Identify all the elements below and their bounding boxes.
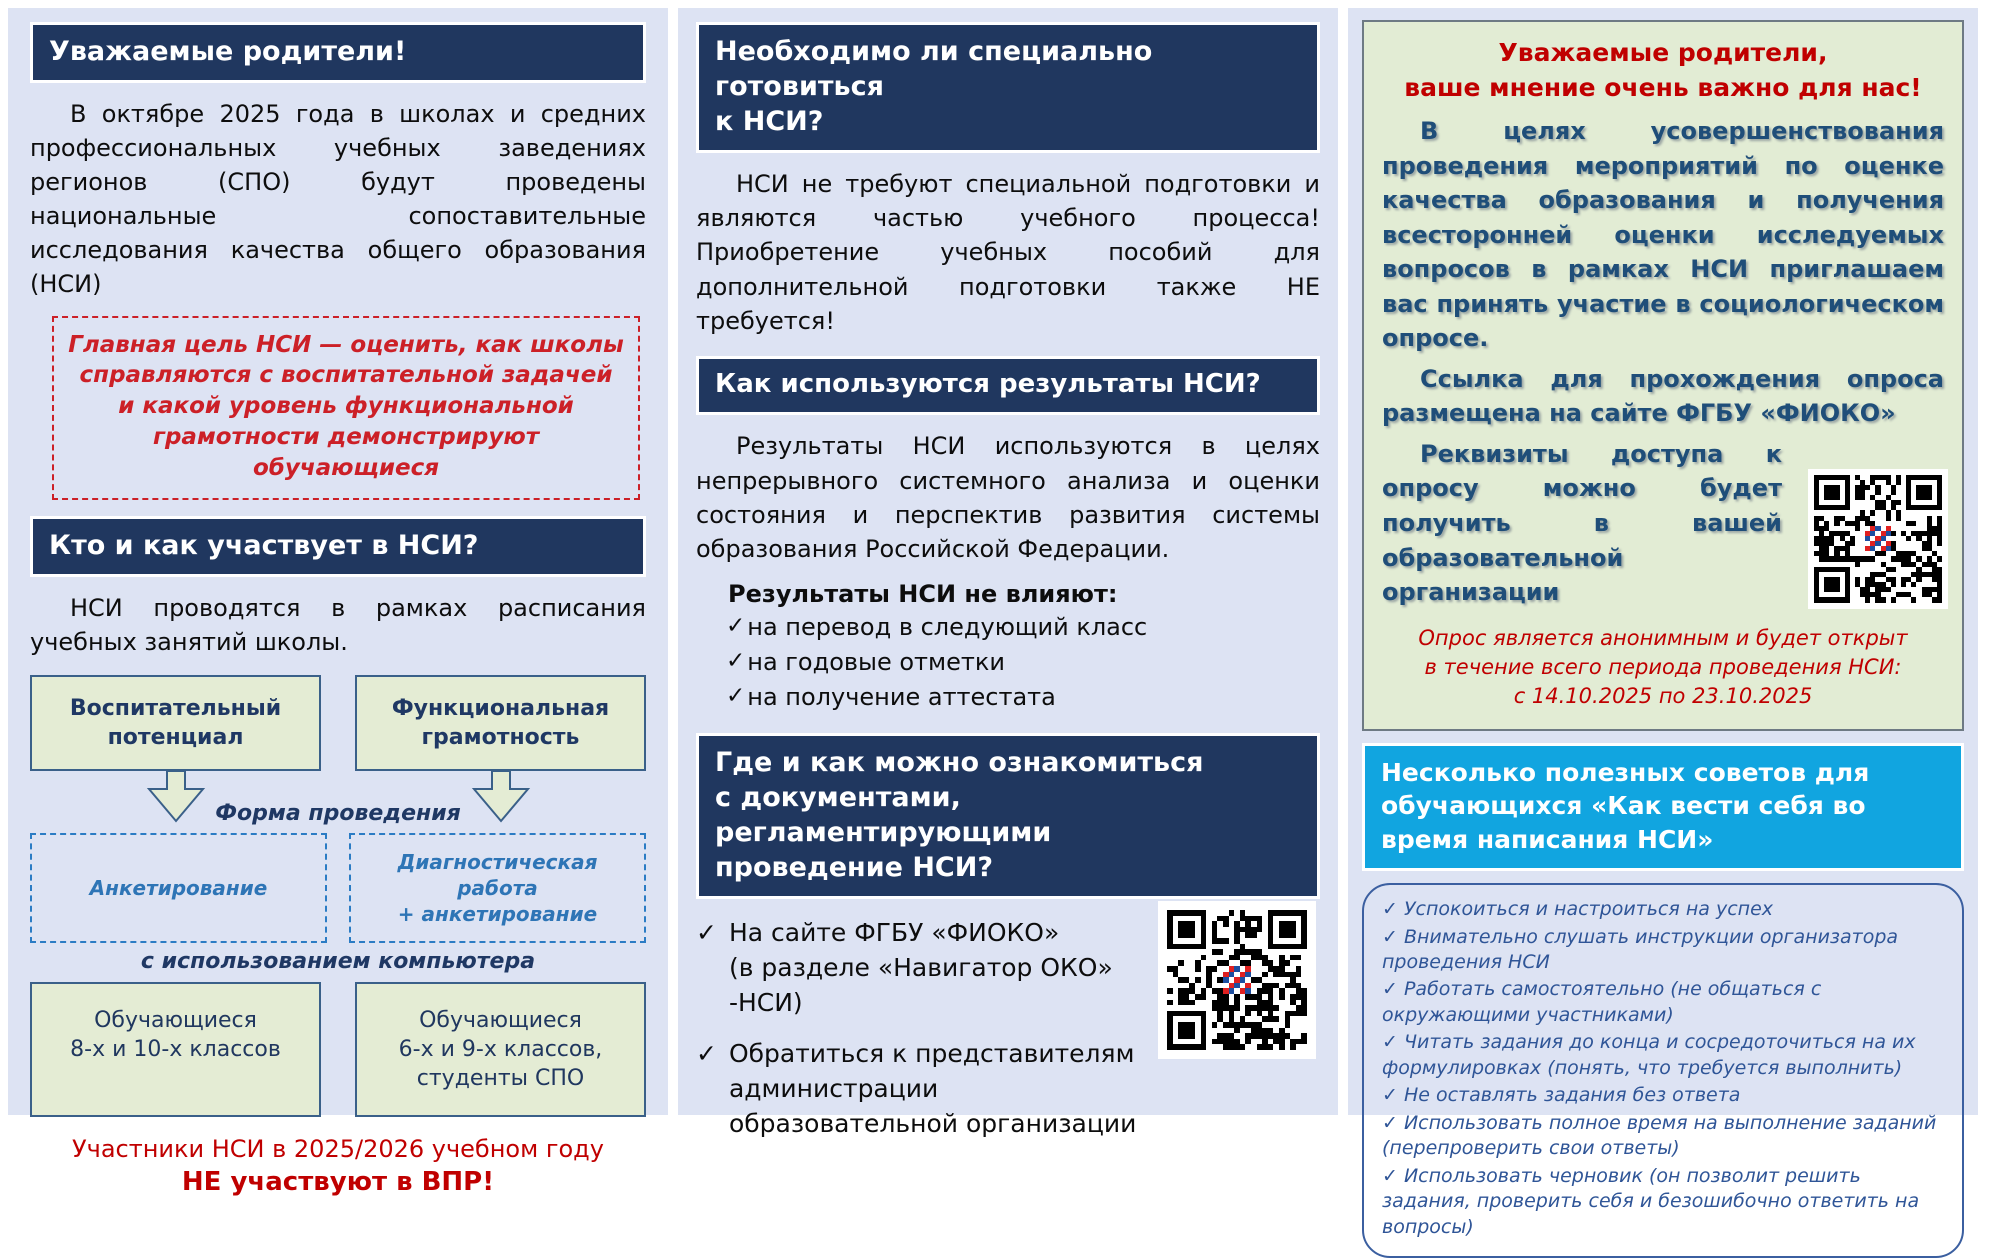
goal-line-5: обучающиеся — [68, 453, 624, 484]
vpr-note-line2: НЕ участвуют в ВПР! — [30, 1165, 646, 1200]
box-functional-literacy: Функциональная грамотность — [355, 675, 646, 771]
poster-root: Уважаемые родители! В октябре 2025 года … — [0, 0, 2000, 1125]
list-item: ✓ на перевод в следующий класс — [726, 610, 1320, 645]
survey-note-line2: в течение всего периода проведения НСИ: — [1382, 653, 1944, 682]
flow-arrow-row: Форма проведения — [30, 771, 646, 831]
survey-anonymous-note: Опрос является анонимным и будет открыт … — [1382, 624, 1944, 711]
banner-useful-tips: Несколько полезных советов для обучающих… — [1362, 743, 1964, 872]
check-icon: ✓ — [726, 645, 745, 679]
goal-line-4: грамотности демонстрируют — [68, 422, 624, 453]
down-arrow-icon — [143, 771, 209, 825]
flow-dashed-row: Анкетирование Диагностическая работа + а… — [30, 833, 646, 943]
check-icon: ✓ — [1382, 898, 1398, 920]
list-item: ✓ на получение аттестата — [726, 680, 1320, 715]
check-icon: ✓ — [726, 610, 745, 644]
qr-code-fioko-mid[interactable] — [1158, 901, 1316, 1059]
survey-title-line2: ваше мнение очень важно для нас! — [1382, 71, 1944, 104]
goal-line-2: справляются с воспитательной задачей — [68, 360, 624, 391]
box-students-6-9-spo: Обучающиеся 6-х и 9-х классов, студенты … — [355, 982, 646, 1117]
goal-line-1: Главная цель НСИ — оценить, как школы — [68, 330, 624, 361]
list-item: ✓ Работать самостоятельно (не общаться с… — [1382, 977, 1946, 1028]
preparation-paragraph: НСИ не требуют специальной подготовки и … — [696, 167, 1320, 337]
list-item: ✓ Читать задания до конца и сосредоточит… — [1382, 1030, 1946, 1081]
box-upbringing-potential: Воспитательный потенциал — [30, 675, 321, 771]
check-icon: ✓ — [696, 915, 717, 1020]
vpr-note: Участники НСИ в 2025/2026 учебном году Н… — [30, 1133, 646, 1200]
no-influence-item-text: на перевод в следующий класс — [747, 610, 1147, 645]
tip-text: Использовать полное время на выполнение … — [1382, 1112, 1936, 1159]
survey-paragraph-2: Ссылка для прохождения опроса размещена … — [1382, 362, 1944, 431]
schedule-paragraph: НСИ проводятся в рамках расписания учебн… — [30, 591, 646, 659]
box-students-8-10: Обучающиеся 8-х и 10-х классов — [30, 982, 321, 1117]
check-icon: ✓ — [696, 1036, 717, 1141]
middle-column: Необходимо ли специально готовиться к НС… — [678, 8, 1338, 1115]
tip-text: Читать задания до конца и сосредоточитьс… — [1382, 1031, 1916, 1078]
tip-text: Использовать черновик (он позволит решит… — [1382, 1165, 1919, 1238]
tip-text: Успокоиться и настроиться на успех — [1404, 898, 1773, 920]
dashed-box-diagnostic-work: Диагностическая работа + анкетирование — [349, 833, 646, 943]
list-item: ✓ Использовать полное время на выполнени… — [1382, 1111, 1946, 1162]
survey-paragraph-1: В целях усовершенствования проведения ме… — [1382, 114, 1944, 356]
tip-text: Внимательно слушать инструкции организат… — [1382, 926, 1898, 973]
list-item: ✓ Успокоиться и настроиться на успех — [1382, 897, 1946, 922]
left-column: Уважаемые родители! В октябре 2025 года … — [8, 8, 668, 1115]
tip-text: Не оставлять задания без ответа — [1404, 1084, 1740, 1106]
vpr-note-line1: Участники НСИ в 2025/2026 учебном году — [30, 1133, 646, 1165]
list-item: ✓ на годовые отметки — [726, 645, 1320, 680]
no-influence-list: ✓ на перевод в следующий класс ✓ на годо… — [726, 610, 1320, 715]
check-icon: ✓ — [1382, 926, 1398, 948]
goal-line-3: и какой уровень функциональной — [68, 391, 624, 422]
check-icon: ✓ — [1382, 1031, 1398, 1053]
tip-text: Работать самостоятельно (не общаться с о… — [1382, 978, 1821, 1025]
participation-flow-diagram: Воспитательный потенциал Функциональная … — [30, 675, 646, 1117]
qr-code-survey[interactable] — [1808, 469, 1948, 609]
check-icon: ✓ — [726, 680, 745, 714]
survey-title-line1: Уважаемые родители, — [1382, 36, 1944, 69]
no-influence-item-text: на годовые отметки — [747, 645, 1005, 680]
list-item: ✓ Использовать черновик (он позволит реш… — [1382, 1164, 1946, 1240]
no-influence-lead: Результаты НСИ не влияют: — [728, 580, 1320, 608]
right-column: Уважаемые родители, ваше мнение очень ва… — [1348, 8, 1978, 1115]
with-computer-label: с использованием компьютера — [30, 949, 646, 974]
results-usage-paragraph: Результаты НСИ используются в целях непр… — [696, 429, 1320, 565]
dashed-box-questionnaire: Анкетирование — [30, 833, 327, 943]
down-arrow-icon — [468, 771, 534, 825]
goal-box: Главная цель НСИ — оценить, как школы сп… — [52, 316, 640, 500]
arrow-cell-left — [30, 771, 321, 825]
banner-who-participates: Кто и как участвует в НСИ? — [30, 516, 646, 577]
tips-list: ✓ Успокоиться и настроиться на успех ✓ В… — [1382, 897, 1946, 1240]
check-icon: ✓ — [1382, 1112, 1398, 1134]
list-item: ✓ Не оставлять задания без ответа — [1382, 1083, 1946, 1108]
list-item: ✓ Внимательно слушать инструкции организ… — [1382, 925, 1946, 976]
flow-target-row: Обучающиеся 8-х и 10-х классов Обучающие… — [30, 982, 646, 1117]
tips-box: ✓ Успокоиться и настроиться на успех ✓ В… — [1362, 883, 1964, 1258]
check-icon: ✓ — [1382, 1084, 1398, 1106]
survey-green-box: Уважаемые родители, ваше мнение очень ва… — [1362, 20, 1964, 731]
banner-documents: Где и как можно ознакомиться с документа… — [696, 733, 1320, 899]
banner-preparation: Необходимо ли специально готовиться к НС… — [696, 22, 1320, 153]
survey-paragraph-3: Реквизиты доступа к опросу можно будет п… — [1382, 437, 1782, 610]
survey-note-line1: Опрос является анонимным и будет открыт — [1382, 624, 1944, 653]
check-icon: ✓ — [1382, 1165, 1398, 1187]
survey-note-line3: с 14.10.2025 по 23.10.2025 — [1382, 682, 1944, 711]
arrow-cell-right — [355, 771, 646, 825]
banner-dear-parents: Уважаемые родители! — [30, 22, 646, 83]
document-item-text: Обратиться к представителям администраци… — [729, 1036, 1159, 1141]
document-item-text: На сайте ФГБУ «ФИОКО» (в разделе «Навига… — [729, 915, 1159, 1020]
check-icon: ✓ — [1382, 978, 1398, 1000]
banner-results-usage: Как используются результаты НСИ? — [696, 356, 1320, 416]
flow-top-row: Воспитательный потенциал Функциональная … — [30, 675, 646, 771]
no-influence-item-text: на получение аттестата — [747, 680, 1056, 715]
intro-paragraph: В октябре 2025 года в школах и средних п… — [30, 97, 646, 301]
